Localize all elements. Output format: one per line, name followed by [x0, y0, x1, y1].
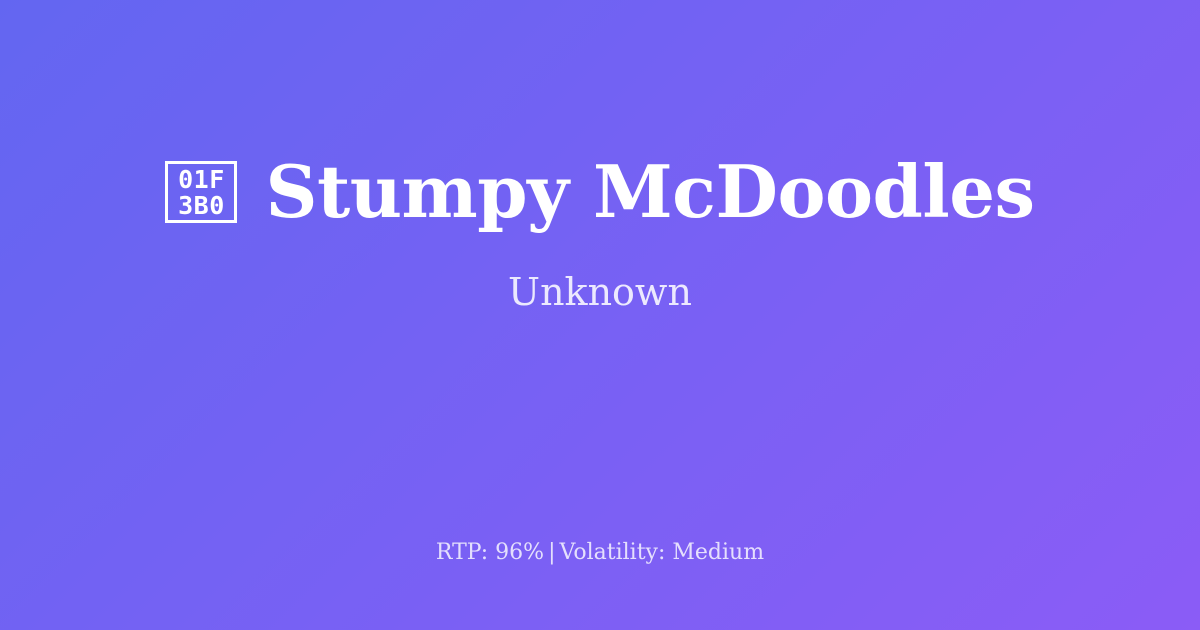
- card-main-content: 01F 3B0 Stumpy McDoodles Unknown: [0, 0, 1200, 470]
- slot-machine-icon-hex-top: 01F: [178, 167, 225, 193]
- og-share-card: 01F 3B0 Stumpy McDoodles Unknown RTP: 96…: [0, 0, 1200, 630]
- page-title: Stumpy McDoodles: [265, 154, 1034, 230]
- volatility-label: Volatility: Medium: [560, 540, 765, 565]
- title-row: 01F 3B0 Stumpy McDoodles: [0, 154, 1200, 230]
- slot-machine-icon: 01F 3B0: [165, 161, 237, 223]
- game-meta-line: RTP: 96%|Volatility: Medium: [436, 539, 764, 568]
- card-footer: RTP: 96%|Volatility: Medium: [0, 539, 1200, 568]
- meta-separator: |: [544, 540, 559, 565]
- rtp-label: RTP: 96%: [436, 540, 544, 565]
- card-subtitle: Unknown: [508, 270, 692, 316]
- slot-machine-icon-hex-bottom: 3B0: [178, 193, 225, 219]
